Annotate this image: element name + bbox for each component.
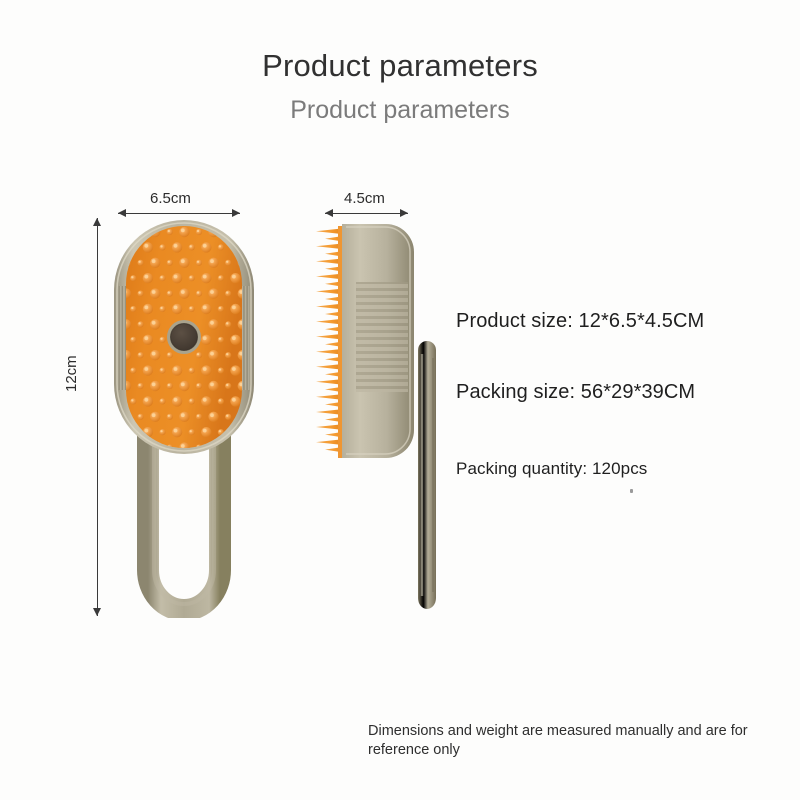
arrow-bar [118,213,240,214]
center-hole [167,320,201,354]
spec-packing-size: Packing size: 56*29*39CM [456,381,695,404]
product-parameter-sheet: Product parameters Product parameters 6.… [0,0,800,800]
arrowhead-right-icon [232,209,240,217]
page-title: Product parameters [0,48,800,84]
dimension-arrow-front-width-icon [118,209,240,218]
dimension-label-front-width: 6.5cm [150,190,191,207]
arrowhead-right-icon [400,209,408,217]
page-subtitle: Product parameters [0,94,800,126]
spec-product-size: Product size: 12*6.5*4.5CM [456,310,704,333]
grip-ribs [356,282,408,392]
dimension-label-front-height: 12cm [63,355,80,392]
arrow-bar [325,213,408,214]
spec-packing-quantity: Packing quantity: 120pcs [456,459,647,479]
dimension-label-side-width: 4.5cm [344,190,385,207]
footer-disclaimer: Dimensions and weight are measured manua… [368,722,780,760]
brush-handle-side [418,341,436,609]
product-side-view-image [312,218,447,628]
stray-dot-artifact [630,489,633,493]
product-front-view-image [96,218,272,618]
dimension-arrow-side-width-icon [325,209,408,218]
